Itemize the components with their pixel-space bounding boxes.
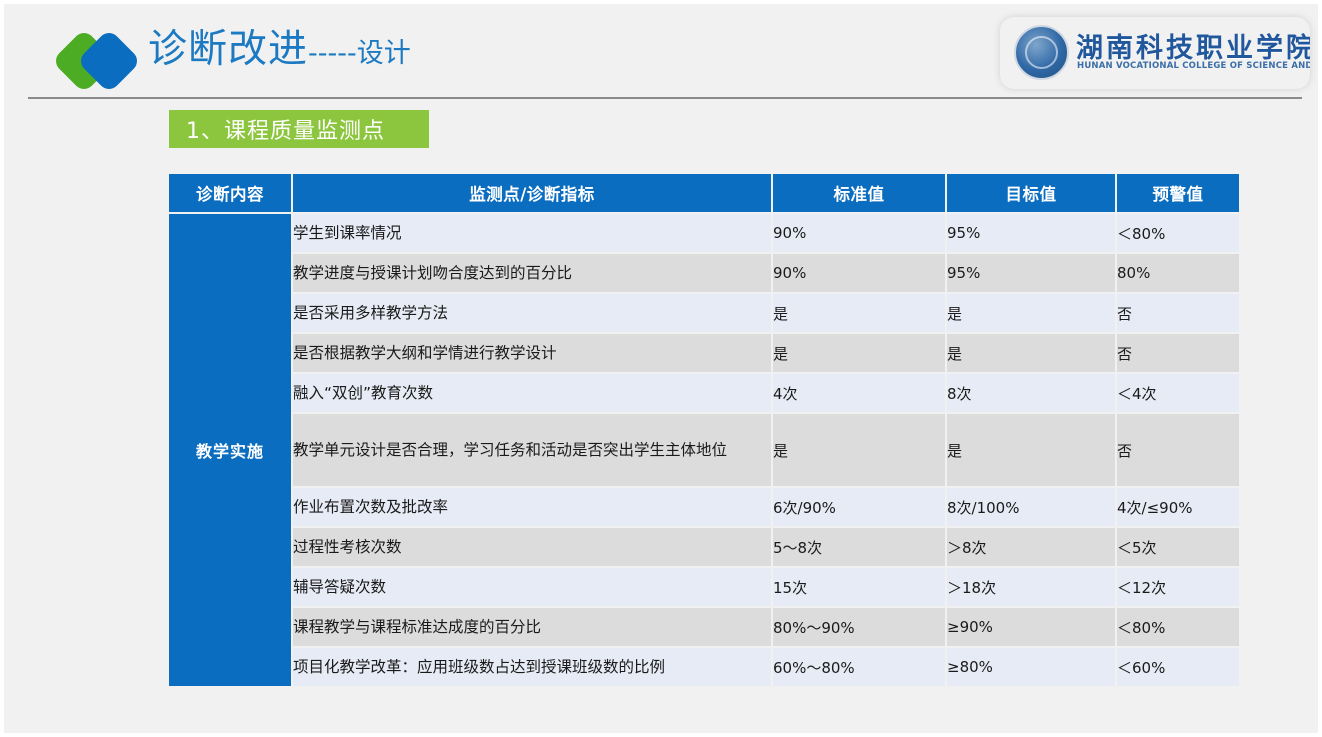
warning-cell: ＜5次 [1117,528,1239,566]
section-banner-label: 1、课程质量监测点 [169,113,385,145]
indicator-cell: 作业布置次数及批改率 [293,488,771,526]
column-header-standard: 标准值 [773,174,945,212]
table-row: 课程教学与课程标准达成度的百分比 80%～90% ≥90% ＜80% [169,608,1239,646]
target-cell: 95% [947,254,1115,292]
target-cell: 是 [947,334,1115,372]
warning-cell: 4次/≤90% [1117,488,1239,526]
monitor-table: 诊断内容 监测点/诊断指标 标准值 目标值 预警值 教学实施 学生到课率情况 9… [167,172,1241,688]
warning-cell: ＜80% [1117,214,1239,252]
table-row: 教学实施 学生到课率情况 90% 95% ＜80% [169,214,1239,252]
monitor-table-wrapper: 诊断内容 监测点/诊断指标 标准值 目标值 预警值 教学实施 学生到课率情况 9… [167,172,1233,688]
header-divider [28,97,1302,99]
target-cell: 是 [947,294,1115,332]
table-row: 作业布置次数及批改率 6次/90% 8次/100% 4次/≤90% [169,488,1239,526]
target-cell: ＞8次 [947,528,1115,566]
indicator-cell: 项目化教学改革：应用班级数占达到授课班级数的比例 [293,648,771,686]
standard-cell: 80%～90% [773,608,945,646]
table-row: 过程性考核次数 5～8次 ＞8次 ＜5次 [169,528,1239,566]
slide-header: 诊断改进-----设计 湖南科技职业学院 HUNAN VOCATIONAL CO… [4,4,1322,102]
slide-canvas: 诊断改进-----设计 湖南科技职业学院 HUNAN VOCATIONAL CO… [0,0,1322,737]
warning-cell: 否 [1117,294,1239,332]
warning-cell: ＜60% [1117,648,1239,686]
warning-cell: ＜12次 [1117,568,1239,606]
school-name-english: HUNAN VOCATIONAL COLLEGE OF SCIENCE AND … [1077,61,1310,71]
indicator-cell: 教学进度与授课计划吻合度达到的百分比 [293,254,771,292]
school-name-chinese: 湖南科技职业学院 [1076,26,1310,65]
school-seal-icon [1014,25,1069,80]
target-cell: ≥80% [947,648,1115,686]
column-header-indicator: 监测点/诊断指标 [293,174,771,212]
target-cell: ≥90% [947,608,1115,646]
standard-cell: 是 [773,334,945,372]
indicator-cell: 是否根据教学大纲和学情进行教学设计 [293,334,771,372]
warning-cell: 否 [1117,334,1239,372]
standard-cell: 6次/90% [773,488,945,526]
page-title-sub: -----设计 [308,38,411,69]
table-row: 教学单元设计是否合理，学习任务和活动是否突出学生主体地位 是 是 否 [169,414,1239,486]
standard-cell: 4次 [773,374,945,412]
school-logo: 湖南科技职业学院 HUNAN VOCATIONAL COLLEGE OF SCI… [1000,17,1310,89]
column-header-category: 诊断内容 [169,174,291,212]
table-header-row: 诊断内容 监测点/诊断指标 标准值 目标值 预警值 [169,174,1239,212]
indicator-cell: 课程教学与课程标准达成度的百分比 [293,608,771,646]
section-banner: 1、课程质量监测点 [169,110,429,148]
target-cell: 8次 [947,374,1115,412]
indicator-cell: 过程性考核次数 [293,528,771,566]
table-row: 项目化教学改革：应用班级数占达到授课班级数的比例 60%～80% ≥80% ＜6… [169,648,1239,686]
warning-cell: 否 [1117,414,1239,486]
table-row: 辅导答疑次数 15次 ＞18次 ＜12次 [169,568,1239,606]
indicator-cell: 是否采用多样教学方法 [293,294,771,332]
standard-cell: 90% [773,214,945,252]
target-cell: 8次/100% [947,488,1115,526]
standard-cell: 是 [773,414,945,486]
brand-diamond-logo-icon [57,30,145,92]
indicator-cell: 学生到课率情况 [293,214,771,252]
target-cell: ＞18次 [947,568,1115,606]
target-cell: 95% [947,214,1115,252]
indicator-cell: 辅导答疑次数 [293,568,771,606]
table-row: 是否采用多样教学方法 是 是 否 [169,294,1239,332]
indicator-cell: 教学单元设计是否合理，学习任务和活动是否突出学生主体地位 [293,414,771,486]
standard-cell: 是 [773,294,945,332]
target-cell: 是 [947,414,1115,486]
category-cell-teaching-implementation: 教学实施 [169,214,291,686]
standard-cell: 5～8次 [773,528,945,566]
warning-cell: 80% [1117,254,1239,292]
indicator-cell: 融入“双创”教育次数 [293,374,771,412]
standard-cell: 90% [773,254,945,292]
page-title: 诊断改进-----设计 [148,30,411,69]
table-row: 是否根据教学大纲和学情进行教学设计 是 是 否 [169,334,1239,372]
warning-cell: ＜4次 [1117,374,1239,412]
standard-cell: 60%～80% [773,648,945,686]
warning-cell: ＜80% [1117,608,1239,646]
table-row: 融入“双创”教育次数 4次 8次 ＜4次 [169,374,1239,412]
table-row: 教学进度与授课计划吻合度达到的百分比 90% 95% 80% [169,254,1239,292]
page-title-main: 诊断改进 [148,27,308,72]
column-header-warning: 预警值 [1117,174,1239,212]
standard-cell: 15次 [773,568,945,606]
column-header-target: 目标值 [947,174,1115,212]
